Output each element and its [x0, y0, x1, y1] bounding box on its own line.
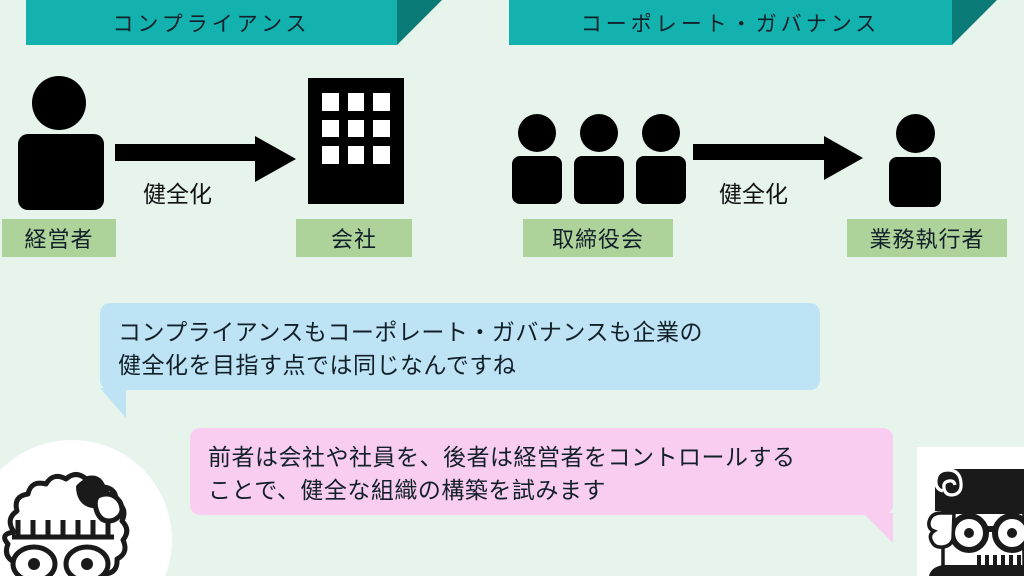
banner-corporate-governance-label: コーポレート・ガバナンス [581, 8, 881, 38]
arrow-head [255, 136, 296, 182]
professor-hair-icon [935, 469, 1024, 511]
person-body-icon [889, 157, 941, 207]
building-window [348, 146, 365, 164]
tag-executive-officer: 業務執行者 [847, 219, 1007, 257]
building-windows-icon [322, 93, 390, 164]
speech-bubble-blue-line1: コンプライアンスもコーポレート・ガバナンスも企業の [118, 317, 802, 350]
building-window [373, 146, 390, 164]
person-body-icon [636, 156, 686, 204]
building-window [373, 93, 390, 111]
building-window [322, 120, 339, 138]
person-head-icon [518, 114, 556, 152]
person-head-icon [580, 114, 618, 152]
slide-canvas: コンプライアンス コーポレート・ガバナンス 健全化 経営者 会社 [0, 0, 1024, 576]
professor-character-icon [917, 447, 1024, 576]
person-head-icon [896, 114, 935, 153]
speech-bubble-pink-line1: 前者は会社や社員を、後者は経営者をコントロールする [208, 442, 875, 475]
person-icon [18, 76, 104, 210]
banner-compliance-label: コンプライアンス [112, 8, 310, 38]
person-body-icon [18, 134, 104, 210]
arrow-caption-right: 健全化 [719, 175, 788, 209]
speech-bubble-blue: コンプライアンスもコーポレート・ガバナンスも企業の 健全化を目指す点では同じなん… [100, 303, 820, 390]
banner-corporate-governance-fold-icon [952, 0, 997, 45]
speech-bubble-pink: 前者は会社や社員を、後者は経営者をコントロールする ことで、健全な組織の構築を試… [190, 428, 893, 515]
professor-hand-icon [929, 513, 954, 547]
building-window [322, 93, 339, 111]
speech-bubble-blue-tail [100, 388, 126, 418]
person-head-icon [32, 76, 86, 130]
arrow-shaft [115, 144, 259, 161]
speech-bubble-blue-line2: 健全化を目指す点では同じなんですね [118, 350, 802, 383]
building-window [348, 120, 365, 138]
tag-manager: 経営者 [2, 219, 116, 257]
arrow-right-icon [693, 136, 863, 180]
sheep-ear-icon [95, 494, 122, 521]
arrow-shaft [693, 144, 828, 160]
arrow-head [824, 136, 863, 180]
building-icon [308, 78, 404, 204]
tag-board-of-directors: 取締役会 [523, 219, 673, 257]
sheep-avatar [0, 440, 172, 576]
professor-avatar [917, 447, 1024, 576]
building-window [322, 146, 339, 164]
banner-compliance: コンプライアンス [26, 0, 397, 45]
speech-bubble-pink-line2: ことで、健全な組織の構築を試みます [208, 475, 875, 508]
building-window [348, 93, 365, 111]
person-icon-board-1 [512, 114, 562, 204]
person-body-icon [512, 156, 562, 204]
person-icon-executive [889, 114, 941, 207]
building-window [373, 120, 390, 138]
person-head-icon [642, 114, 680, 152]
person-body-icon [574, 156, 624, 204]
professor-shoulder-icon [929, 565, 1024, 576]
person-icon-board-3 [636, 114, 686, 204]
banner-compliance-fold-icon [397, 0, 442, 45]
person-icon-board-2 [574, 114, 624, 204]
speech-bubble-pink-tail [863, 513, 893, 543]
sheep-character-icon [0, 440, 172, 576]
arrow-caption-left: 健全化 [143, 175, 212, 209]
tag-company: 会社 [296, 219, 412, 257]
banner-corporate-governance: コーポレート・ガバナンス [509, 0, 952, 45]
